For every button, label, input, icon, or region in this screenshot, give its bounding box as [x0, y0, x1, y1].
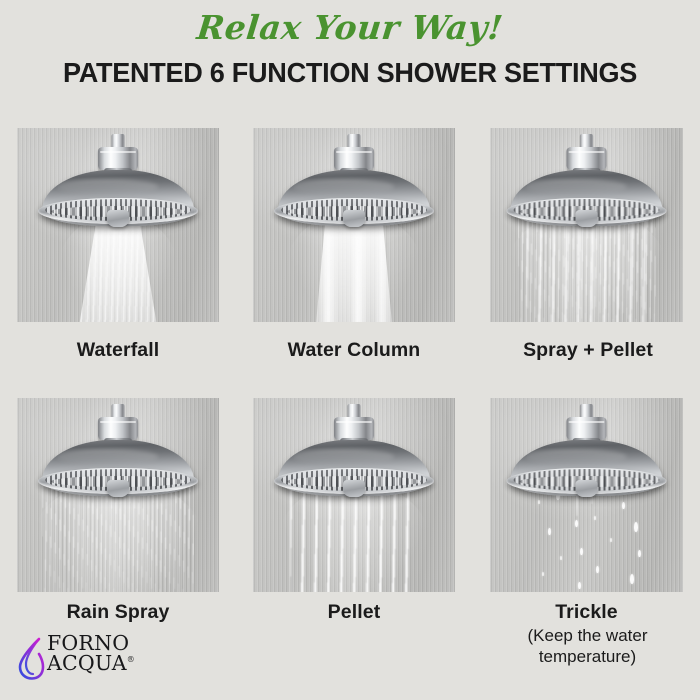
water-drop	[538, 500, 540, 504]
water-drop	[609, 488, 612, 495]
tile-image-water-column	[253, 128, 455, 322]
tile-caption-rain-spray: Rain Spray	[17, 601, 219, 624]
trickle-stream	[576, 482, 578, 516]
water-drop	[548, 528, 551, 535]
tile-image-trickle	[490, 398, 683, 592]
water-drop	[580, 548, 583, 555]
logo-wordmark: FORNO ACQUA®	[47, 634, 135, 673]
brand-logo: FORNO ACQUA®	[15, 634, 205, 686]
logo-line-2-text: ACQUA	[47, 651, 127, 675]
tile-caption-trickle: Trickle	[490, 601, 683, 624]
water-drop	[596, 566, 599, 573]
page-title: PATENTED 6 FUNCTION SHOWER SETTINGS	[5, 57, 695, 89]
water-droplet-icon	[15, 636, 49, 680]
tile-image-pellet	[253, 398, 455, 592]
water-drop	[578, 582, 581, 589]
water-pellet-streams	[290, 482, 418, 592]
tile-caption-water-column: Water Column	[253, 339, 455, 362]
tile-caption-waterfall: Waterfall	[17, 339, 219, 362]
trickle-stream	[591, 482, 593, 504]
registered-mark: ®	[127, 655, 135, 664]
water-drop	[560, 556, 562, 560]
tile-image-spray-pellet	[490, 128, 683, 322]
header: Relax Your Way! PATENTED 6 FUNCTION SHOW…	[0, 0, 700, 112]
water-pellet-streams	[527, 214, 647, 322]
water-rain-streams	[42, 482, 194, 592]
water-drop	[622, 502, 625, 509]
water-drop	[542, 572, 544, 576]
water-drop	[630, 574, 634, 584]
tile-image-waterfall	[17, 128, 219, 322]
script-title: Relax Your Way!	[0, 8, 700, 47]
water-trickle-drops	[490, 398, 683, 592]
tile-image-rain-spray	[17, 398, 219, 592]
logo-line-2: ACQUA®	[47, 654, 135, 673]
water-drop	[556, 490, 560, 500]
water-drop	[638, 550, 641, 557]
tile-caption-pellet: Pellet	[253, 601, 455, 624]
water-drop	[634, 522, 638, 532]
water-drop	[594, 516, 596, 520]
tile-caption-spray-pellet: Spray + Pellet	[488, 339, 688, 362]
tile-subcaption-trickle: (Keep the water temperature)	[495, 625, 680, 667]
water-drop	[610, 538, 612, 542]
water-drop	[575, 520, 578, 527]
